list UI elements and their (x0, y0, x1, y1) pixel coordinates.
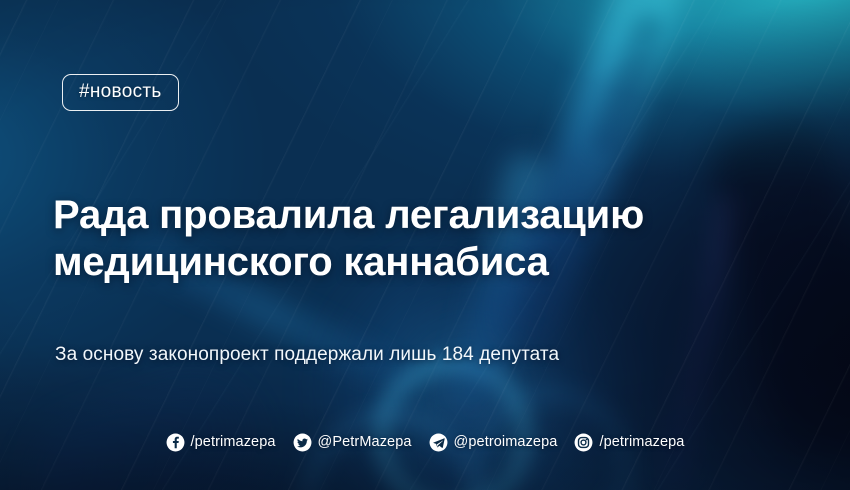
social-links: /petrimazepa @PetrMazepa @petroimazepa (0, 433, 850, 452)
twitter-icon (293, 433, 312, 452)
social-handle: /petrimazepa (599, 433, 684, 452)
social-link-twitter[interactable]: @PetrMazepa (293, 433, 412, 452)
instagram-icon (574, 433, 593, 452)
social-handle: /petrimazepa (191, 433, 276, 452)
telegram-icon (429, 433, 448, 452)
social-handle: @PetrMazepa (318, 433, 412, 452)
social-link-instagram[interactable]: /petrimazepa (574, 433, 684, 452)
card-content: #новость Рада провалила легализацию меди… (0, 0, 850, 490)
subtitle: За основу законопроект поддержали лишь 1… (55, 343, 559, 367)
headline: Рада провалила легализацию медицинского … (53, 192, 753, 286)
social-handle: @petroimazepa (454, 433, 558, 452)
news-card: #новость Рада провалила легализацию меди… (0, 0, 850, 490)
social-link-telegram[interactable]: @petroimazepa (429, 433, 558, 452)
category-badge[interactable]: #новость (62, 74, 179, 111)
social-link-facebook[interactable]: /petrimazepa (166, 433, 276, 452)
facebook-icon (166, 433, 185, 452)
